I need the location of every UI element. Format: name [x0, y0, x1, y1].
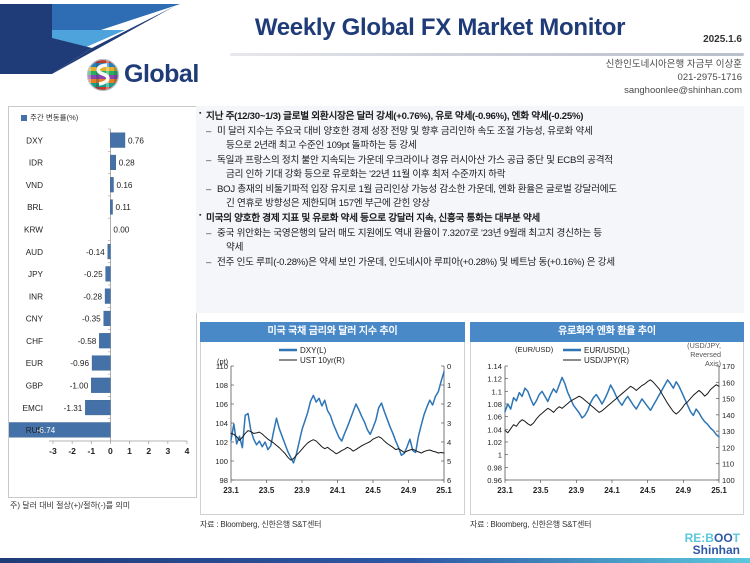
commentary-line: 약세 [200, 241, 740, 256]
x-axis-tick: 23.9 [294, 486, 310, 495]
chart-body-ust-dxy: 98100102104106108110012345623.123.523.92… [200, 342, 465, 515]
y2-axis-tick: 3 [447, 419, 451, 428]
right-axis-unit: Axis) [705, 359, 721, 368]
bar [85, 400, 110, 415]
commentary-line: 중국 위안화는 국영은행의 달러 매도 지원에도 역내 환율이 7.3207로 … [200, 227, 740, 242]
bar-category-label: IDR [29, 159, 43, 168]
commentary-line: 등으로 2년래 최고 수준인 109pt 돌파하는 등 강세 [200, 139, 740, 154]
bar [108, 244, 111, 259]
y-axis-tick: 0.98 [487, 463, 502, 472]
bar-value-label: -0.14 [86, 248, 105, 257]
y-axis-tick: 1.02 [487, 438, 502, 447]
bar-chart-plot: DXY0.76IDR0.28VND0.16BRL0.11KRW0.00AUD-0… [9, 125, 196, 475]
bar-value-label: -1.31 [64, 404, 83, 413]
bar-category-label: EMCI [23, 404, 43, 413]
y-axis-tick: 0.96 [487, 476, 502, 485]
bar-value-label: -0.25 [84, 270, 103, 279]
x-axis-tick: 24.9 [676, 486, 692, 495]
x-axis-tick: 24.5 [640, 486, 656, 495]
left-axis-unit: (EUR/USD) [515, 345, 553, 354]
y-axis-tick: 108 [215, 381, 228, 390]
x-axis-tick: 23.1 [497, 486, 513, 495]
bar [106, 267, 111, 282]
y2-axis-tick: 110 [722, 460, 734, 469]
y2-axis-tick: 170 [722, 362, 735, 371]
y2-axis-tick: 0 [447, 362, 451, 371]
bar-value-label: -0.28 [83, 292, 102, 301]
bar-category-label: INR [29, 292, 43, 301]
y2-axis-tick: 150 [722, 395, 735, 404]
bar [110, 155, 115, 170]
bar-category-label: JPY [28, 270, 44, 279]
footer-gradient-bar [0, 558, 750, 563]
bar-axis-tick: 4 [185, 446, 190, 456]
y2-axis-tick: 120 [722, 443, 735, 452]
bar-value-label: -1.00 [70, 381, 89, 390]
y-axis-tick: 1.14 [487, 362, 502, 371]
chart-panel-ust-dxy: 미국 국채 금리와 달러 지수 추이 981001021041061081100… [200, 322, 465, 550]
y2-axis-tick: 4 [447, 438, 451, 447]
x-axis-tick: 23.5 [259, 486, 275, 495]
bar-category-label: DXY [26, 136, 43, 145]
y-axis-tick: 1.06 [487, 413, 502, 422]
y-axis-tick: 100 [215, 457, 228, 466]
bar-category-label: CNY [26, 315, 44, 324]
commentary-line: BOJ 총재의 비둘기파적 입장 유지로 1월 금리인상 가능성 감소한 가운데… [200, 183, 740, 198]
header-divider [230, 53, 744, 56]
bar [110, 177, 113, 192]
bar-chart-legend-label: 주간 변동률(%) [30, 113, 78, 122]
y2-axis-tick: 130 [722, 427, 735, 436]
legend-label: EUR/USD(L) [584, 346, 630, 355]
x-axis-tick: 23.1 [223, 486, 239, 495]
bar-category-label: KRW [24, 225, 43, 234]
y-axis-tick: 106 [215, 400, 228, 409]
bar [92, 356, 110, 371]
commentary-line: 금리 인하 기대 강화 등으로 유로화는 '22년 11월 이후 최저 수준까지… [200, 168, 740, 183]
reboot-logo-line2: Shinhan [685, 544, 740, 557]
brand-global-label: Global [124, 60, 199, 89]
right-axis-unit: (USD/JPY, [687, 342, 721, 350]
bar [105, 289, 110, 304]
bar [99, 333, 110, 348]
bar [110, 200, 112, 215]
legend-label: USD/JPY(R) [584, 356, 629, 365]
contact-email: sanghoonlee@shinhan.com [606, 84, 742, 97]
y-axis-tick: 1.1 [491, 387, 502, 396]
bar-axis-tick: 0 [108, 446, 113, 456]
legend-label: DXY(L) [300, 346, 327, 355]
bar-axis-tick: -1 [87, 446, 95, 456]
x-axis-tick: 25.1 [711, 486, 727, 495]
bar-value-label: 0.16 [116, 181, 132, 190]
chart-body-eur-jpy: 0.960.9811.021.041.061.081.11.121.141001… [470, 342, 744, 515]
bar-category-label: AUD [26, 248, 43, 257]
left-axis-unit: (pt) [217, 357, 228, 366]
y2-axis-tick: 100 [722, 476, 735, 485]
y-axis-tick: 1.08 [487, 400, 502, 409]
y2-axis-tick: 1 [447, 381, 451, 390]
y-axis-tick: 1.04 [487, 425, 502, 434]
y-axis-tick: 1.12 [487, 375, 502, 384]
chart-title-eur-jpy: 유로화와 엔화 환율 추이 [470, 322, 744, 342]
y2-axis-tick: 6 [447, 476, 451, 485]
commentary-line: 미국의 양호한 경제 지표 및 유로화 약세 등으로 강달러 지속, 신흥국 통… [200, 212, 740, 227]
page-header: Weekly Global FX Market Monitor 2025.1.6 [0, 0, 750, 96]
bar [104, 311, 111, 326]
chart-title-ust-dxy: 미국 국채 금리와 달러 지수 추이 [200, 322, 465, 342]
y-axis-tick: 104 [215, 419, 228, 428]
bar-axis-tick: 1 [127, 446, 132, 456]
bar-value-label: -6.74 [37, 426, 56, 435]
fx-market-monitor-page: Weekly Global FX Market Monitor 2025.1.6 [0, 0, 750, 563]
contact-phone: 021-2975-1716 [606, 71, 742, 84]
report-date: 2025.1.6 [703, 34, 742, 45]
bar-value-label: 0.11 [116, 203, 132, 212]
bar-value-label: -0.58 [78, 337, 97, 346]
bar-value-label: -0.96 [70, 359, 89, 368]
bar [110, 133, 125, 148]
reboot-shinhan-logo: RE:BOOT Shinhan [685, 532, 740, 557]
bar-axis-tick: 2 [146, 446, 151, 456]
right-axis-unit: Reversed [690, 350, 721, 359]
chart-panel-eur-jpy: 유로화와 엔화 환율 추이 0.960.9811.021.041.061.081… [470, 322, 744, 550]
y2-axis-tick: 2 [447, 400, 451, 409]
y-axis-tick: 98 [220, 476, 228, 485]
x-axis-tick: 25.1 [436, 486, 452, 495]
bar-value-label: -0.35 [82, 315, 101, 324]
weekly-change-bar-chart-panel: 주간 변동률(%) DXY0.76IDR0.28VND0.16BRL0.11KR… [8, 106, 197, 498]
bar-chart-note: 주) 달러 대비 절상(+)/절하(-)를 의미 [10, 500, 130, 511]
x-axis-tick: 23.9 [569, 486, 585, 495]
bar-axis-tick: -2 [68, 446, 76, 456]
bar-value-label: 0.00 [113, 225, 129, 234]
chart-series-line [505, 377, 719, 437]
bar-category-label: VND [26, 181, 43, 190]
bar-axis-tick: -3 [49, 446, 57, 456]
x-axis-tick: 24.1 [330, 486, 346, 495]
bar-value-label: 0.76 [128, 136, 144, 145]
bar-category-label: CHF [26, 337, 43, 346]
commentary-line: 긴 연휴로 방향성은 제한되며 157엔 부근에 갇힌 양상 [200, 197, 740, 212]
chart-svg-eur-jpy: 0.960.9811.021.041.061.081.11.121.141001… [471, 342, 743, 512]
bar [91, 378, 110, 393]
legend-label: UST 10yr(R) [300, 356, 345, 365]
contact-org: 신한인도네시아은행 자금부 이상훈 [606, 58, 742, 71]
bar [9, 423, 110, 438]
y2-axis-tick: 160 [722, 378, 735, 387]
bar-axis-tick: 3 [165, 446, 170, 456]
bar-value-label: 0.28 [119, 159, 135, 168]
contact-block: 신한인도네시아은행 자금부 이상훈 021-2975-1716 sanghoon… [606, 58, 742, 97]
bar-category-label: EUR [26, 359, 43, 368]
chart-svg-ust-dxy: 98100102104106108110012345623.123.523.92… [201, 342, 464, 512]
page-title: Weekly Global FX Market Monitor [230, 14, 650, 42]
commentary-line: 전주 인도 루피(-0.28%)은 약세 보인 가운데, 인도네시아 루피아(+… [200, 256, 740, 271]
y-axis-tick: 102 [215, 438, 228, 447]
x-axis-tick: 24.5 [365, 486, 381, 495]
commentary-line: 지난 주(12/30~1/3) 글로벌 외환시장은 달러 강세(+0.76%),… [200, 110, 740, 125]
x-axis-tick: 24.1 [604, 486, 620, 495]
bar-category-label: GBP [26, 381, 44, 390]
y2-axis-tick: 140 [722, 411, 735, 420]
y2-axis-tick: 5 [447, 457, 451, 466]
bar-category-label: BRL [27, 203, 43, 212]
x-axis-tick: 24.9 [401, 486, 417, 495]
x-axis-tick: 23.5 [533, 486, 549, 495]
commentary-line: 미 달러 지수는 주요국 대비 양호한 경제 성장 전망 및 향후 금리인하 속… [200, 125, 740, 140]
chart-source-ust-dxy: 자료 : Bloomberg, 신한은행 S&T센터 [200, 519, 465, 530]
globe-flags-icon [86, 58, 120, 92]
chart-source-eur-jpy: 자료 : Bloomberg, 신한은행 S&T센터 [470, 519, 744, 530]
commentary-line: 독일과 프랑스의 정치 불안 지속되는 가운데 우크라이나 경유 러시아산 가스… [200, 154, 740, 169]
y-axis-tick: 1 [498, 451, 502, 460]
bar-chart-legend: 주간 변동률(%) [21, 112, 78, 123]
commentary-text-block: 지난 주(12/30~1/3) 글로벌 외환시장은 달러 강세(+0.76%),… [196, 106, 744, 313]
legend-swatch-icon [21, 115, 27, 121]
